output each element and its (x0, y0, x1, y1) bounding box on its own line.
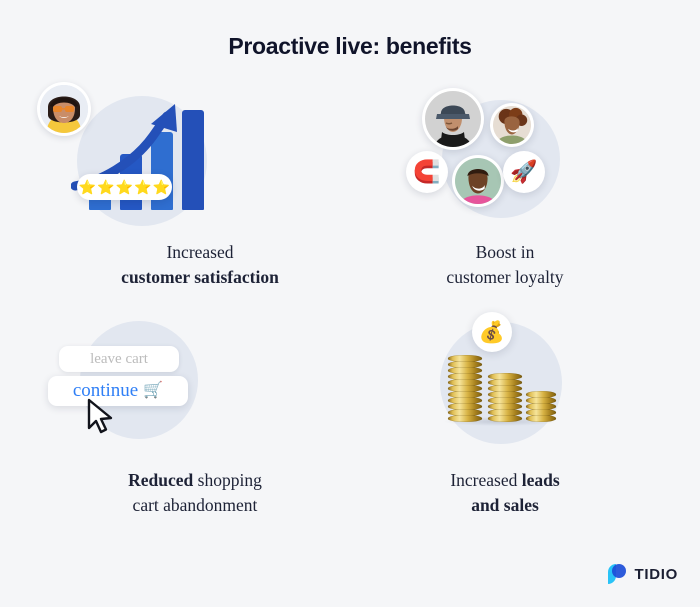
tidio-logo-text: TIDIO (635, 566, 679, 583)
avatar (37, 82, 91, 136)
coin (526, 415, 556, 422)
coin (488, 373, 522, 380)
benefit-card-customer-satisfaction: ⭐ ⭐ ⭐ ⭐ ⭐ Increased customer satisfactio… (25, 78, 375, 291)
rocket-icon: 🚀 (506, 154, 542, 190)
caption-line-2: cart abandonment (20, 493, 370, 518)
caption-line-1: Boost in (330, 240, 680, 265)
continue-button[interactable]: continue 🛒 (48, 376, 188, 406)
coin-stack-medium (488, 370, 522, 422)
infographic-page: Proactive live: benefits (0, 0, 700, 607)
coin (526, 397, 556, 404)
coin (448, 379, 482, 386)
star-icon: ⭐ (116, 180, 133, 194)
shopping-cart-icon: 🛒 (143, 383, 163, 399)
avatar-badge-person-pink-top (452, 155, 504, 207)
money-bag-icon: 💰 (479, 322, 505, 343)
coin (488, 379, 522, 386)
coin (488, 397, 522, 404)
badge-magnet: 🧲 (406, 151, 448, 193)
avatar-badge-person-bucket-hat (422, 88, 484, 150)
coin (448, 355, 482, 362)
avatar-photo (425, 91, 481, 147)
benefit-card-leads-and-sales: 💰 Increased leads and sales (330, 306, 680, 519)
benefit-card-cart-abandonment: leave cart continue 🛒 Reduced shopping c… (20, 306, 370, 519)
star-icon: ⭐ (134, 180, 151, 194)
tidio-logo: TIDIO (606, 563, 679, 585)
coin (488, 385, 522, 392)
benefit-card-customer-loyalty: 🧲 🚀 (330, 78, 680, 291)
leave-cart-button[interactable]: leave cart (59, 346, 179, 372)
benefit-caption: Boost in customer loyalty (330, 240, 680, 291)
caption-line-2-bold: and sales (471, 495, 539, 515)
coin (488, 391, 522, 398)
coin-stack-tall (448, 352, 482, 422)
star-icon: ⭐ (153, 180, 170, 194)
coin (526, 403, 556, 410)
caption-line-1-bold: leads (522, 470, 560, 490)
illustration-coin-stacks: 💰 (330, 306, 680, 456)
benefit-caption: Increased customer satisfaction (25, 240, 375, 291)
caption-line-1: Increased (25, 240, 375, 265)
coin (488, 415, 522, 422)
star-rating: ⭐ ⭐ ⭐ ⭐ ⭐ (77, 174, 172, 200)
coin (448, 409, 482, 416)
coin (448, 391, 482, 398)
page-title: Proactive live: benefits (0, 33, 700, 60)
tidio-logo-mark-icon (606, 563, 628, 585)
caption-line-1-regular: Increased (450, 470, 521, 490)
benefit-caption: Reduced shopping cart abandonment (20, 468, 370, 519)
coin (448, 361, 482, 368)
illustration-bar-chart-growth: ⭐ ⭐ ⭐ ⭐ ⭐ (25, 78, 375, 228)
star-icon: ⭐ (79, 180, 96, 194)
badge-money-bag: 💰 (472, 312, 512, 352)
coin (448, 415, 482, 422)
benefit-caption: Increased leads and sales (330, 468, 680, 519)
caption-line-2: customer loyalty (330, 265, 680, 290)
coin (448, 397, 482, 404)
coin-stack-short (526, 388, 556, 422)
illustration-cart-buttons: leave cart continue 🛒 (20, 306, 370, 456)
coin (526, 391, 556, 398)
illustration-customer-cluster: 🧲 🚀 (330, 78, 680, 228)
avatar-photo (455, 158, 501, 204)
caption-bold-word: Reduced (128, 470, 193, 490)
leave-cart-label: leave cart (90, 351, 148, 368)
caption-line-1-rest: shopping (193, 470, 262, 490)
coin (448, 403, 482, 410)
coin (448, 373, 482, 380)
caption-line-2: customer satisfaction (121, 267, 279, 287)
coin (488, 403, 522, 410)
coin (448, 385, 482, 392)
avatar-photo (493, 106, 531, 144)
star-icon: ⭐ (97, 180, 114, 194)
coin (526, 409, 556, 416)
mouse-cursor-icon (86, 398, 116, 436)
magnet-icon: 🧲 (409, 154, 445, 190)
coin (448, 367, 482, 374)
coin (488, 409, 522, 416)
badge-rocket: 🚀 (503, 151, 545, 193)
avatar-photo-woman-sunglasses (40, 85, 88, 133)
avatar-badge-person-curly-hair (490, 103, 534, 147)
